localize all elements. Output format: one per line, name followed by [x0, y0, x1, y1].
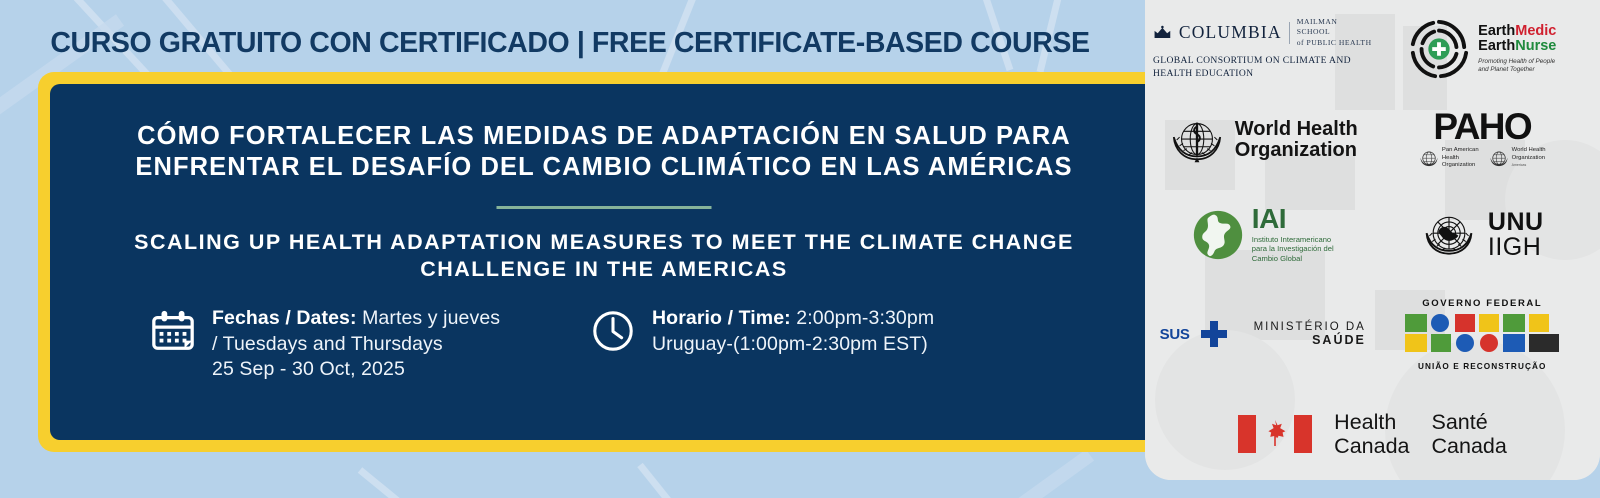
un-emblem-icon	[1421, 207, 1477, 263]
dates-block: Fechas / Dates: Martes y jueves / Tuesda…	[150, 306, 590, 383]
iai-sub-l3: Cambio Global	[1252, 254, 1302, 263]
earthmedic-nurse: Nurse	[1515, 38, 1556, 54]
logo-world-health-organization: World Health Organization	[1153, 94, 1373, 186]
paho-seal-icon	[1419, 149, 1439, 169]
course-promo-banner: CURSO GRATUITO CON CERTIFICADO | FREE CE…	[0, 0, 1600, 498]
columbia-name: COLUMBIA	[1179, 23, 1282, 41]
dates-text: Fechas / Dates: Martes y jueves / Tuesda…	[212, 306, 500, 383]
partner-logos-panel: COLUMBIA MAILMAN SCHOOL of PUBLIC HEALTH…	[1145, 0, 1600, 480]
clock-icon	[590, 308, 636, 354]
brasil-federal-bottom: UNIÃO E RECONSTRUÇÃO	[1403, 362, 1561, 371]
paho-chip1-l3: Organization	[1442, 162, 1475, 168]
who-line1: World Health	[1235, 119, 1358, 140]
health-canada-en-l2: Canada	[1334, 434, 1409, 458]
card-yellow-frame: CÓMO FORTALECER LAS MEDIDAS DE ADAPTACIÓ…	[38, 72, 1158, 452]
kicker-headline: CURSO GRATUITO CON CERTIFICADO | FREE CE…	[0, 27, 1140, 60]
course-info-card: CÓMO FORTALECER LAS MEDIDAS DE ADAPTACIÓ…	[50, 84, 1158, 440]
sus-cross-icon	[1199, 319, 1229, 349]
logo-iai: IAI Instituto Interamericano para la Inv…	[1153, 186, 1373, 284]
paho-chip2-l3: Americas	[1512, 163, 1527, 167]
dates-value-line1: Martes y jueves	[357, 307, 501, 329]
iai-globe-icon	[1192, 209, 1244, 261]
time-value-line1: 2:00pm-3:30pm	[791, 307, 934, 329]
health-canada-fr-l2: Canada	[1432, 434, 1507, 458]
earthmedic-tagline: Promoting Health of People and Planet To…	[1478, 58, 1556, 74]
calendar-icon	[150, 308, 196, 354]
earthmedic-medic: Medic	[1515, 23, 1556, 39]
columbia-crown-icon	[1153, 25, 1172, 40]
iai-sub-l1: Instituto Interamericano	[1252, 235, 1331, 244]
iai-acronym: IAI	[1252, 206, 1334, 233]
paho-chip1-l2: Health	[1442, 155, 1459, 161]
who-emblem-icon	[1168, 111, 1226, 169]
title-divider	[497, 206, 712, 209]
paho-chip1-l1: Pan American	[1442, 147, 1479, 153]
earthmedic-swirl-icon	[1408, 18, 1470, 80]
logo-health-canada: Health Canada Santé Canada	[1153, 384, 1592, 480]
columbia-rule	[1289, 22, 1290, 44]
sus-wordmark: SUS	[1160, 326, 1190, 343]
paho-wordmark: PAHO	[1419, 110, 1546, 144]
left-content-column: CURSO GRATUITO CON CERTIFICADO | FREE CE…	[0, 0, 1148, 498]
time-text: Horario / Time: 2:00pm-3:30pm Uruguay-(1…	[652, 306, 934, 357]
unu-line1: UNU	[1488, 210, 1544, 236]
ministerio-line1: MINISTÉRIO DA	[1254, 321, 1366, 333]
logo-earthmedic-earthnurse: EarthMedic EarthNurse Promoting Health o…	[1373, 4, 1593, 94]
logo-unu-iigh: UNU IIGH	[1373, 186, 1593, 284]
who-americas-seal-icon	[1489, 149, 1509, 169]
ministerio-line2: SAÚDE	[1254, 333, 1366, 347]
brasil-wordmark-icon	[1403, 312, 1561, 354]
logo-paho: PAHO Pan American Health	[1373, 94, 1593, 186]
health-canada-en-l1: Health	[1334, 410, 1409, 434]
course-title-spanish: CÓMO FORTALECER LAS MEDIDAS DE ADAPTACIÓ…	[78, 121, 1130, 183]
earthmedic-earth-2: Earth	[1478, 38, 1515, 54]
columbia-consortium: GLOBAL CONSORTIUM ON CLIMATE AND HEALTH …	[1153, 55, 1373, 81]
time-value-line2: Uruguay-(1:00pm-2:30pm EST)	[652, 333, 928, 355]
brasil-federal-top: GOVERNO FEDERAL	[1403, 298, 1561, 309]
logo-governo-federal-brasil: GOVERNO FEDERAL	[1373, 284, 1593, 384]
paho-chip2-l2: Organization	[1512, 155, 1545, 161]
earthmedic-tagline-l2: and Planet Together	[1478, 66, 1534, 73]
time-label: Horario / Time:	[652, 307, 791, 329]
columbia-sub-l2: HEALTH EDUCATION	[1153, 68, 1253, 79]
columbia-mailman-l1: MAILMAN SCHOOL	[1297, 17, 1338, 36]
paho-chip-pan-american: Pan American Health Organization	[1419, 147, 1479, 169]
course-details-row: Fechas / Dates: Martes y jueves / Tuesda…	[50, 306, 1158, 383]
earthmedic-earth-1: Earth	[1478, 23, 1515, 39]
who-line2: Organization	[1235, 140, 1358, 161]
paho-chip-who-americas: World Health Organization Americas	[1489, 147, 1546, 169]
dates-value-line3: 25 Sep - 30 Oct, 2025	[212, 358, 405, 380]
earthmedic-tagline-l1: Promoting Health of People	[1478, 58, 1555, 65]
dates-label: Fechas / Dates:	[212, 307, 357, 329]
unu-line2: IIGH	[1488, 235, 1544, 261]
logo-columbia: COLUMBIA MAILMAN SCHOOL of PUBLIC HEALTH…	[1153, 4, 1373, 94]
logo-ministerio-saude: SUS MINISTÉRIO DA SAÚDE	[1153, 284, 1373, 384]
time-block: Horario / Time: 2:00pm-3:30pm Uruguay-(1…	[590, 306, 1060, 383]
health-canada-fr-l1: Santé	[1432, 410, 1507, 434]
iai-sub-l2: para la Investigación del	[1252, 244, 1334, 253]
dates-value-line2: / Tuesdays and Thursdays	[212, 333, 443, 355]
columbia-mailman-l2: of PUBLIC HEALTH	[1297, 38, 1372, 47]
columbia-mailman-school: MAILMAN SCHOOL of PUBLIC HEALTH	[1297, 17, 1373, 48]
canada-flag-icon	[1238, 415, 1312, 453]
course-title-english: SCALING UP HEALTH ADAPTATION MEASURES TO…	[78, 229, 1130, 283]
paho-chip2-l1: World Health	[1512, 147, 1546, 153]
columbia-sub-l1: GLOBAL CONSORTIUM ON CLIMATE AND	[1153, 55, 1351, 66]
